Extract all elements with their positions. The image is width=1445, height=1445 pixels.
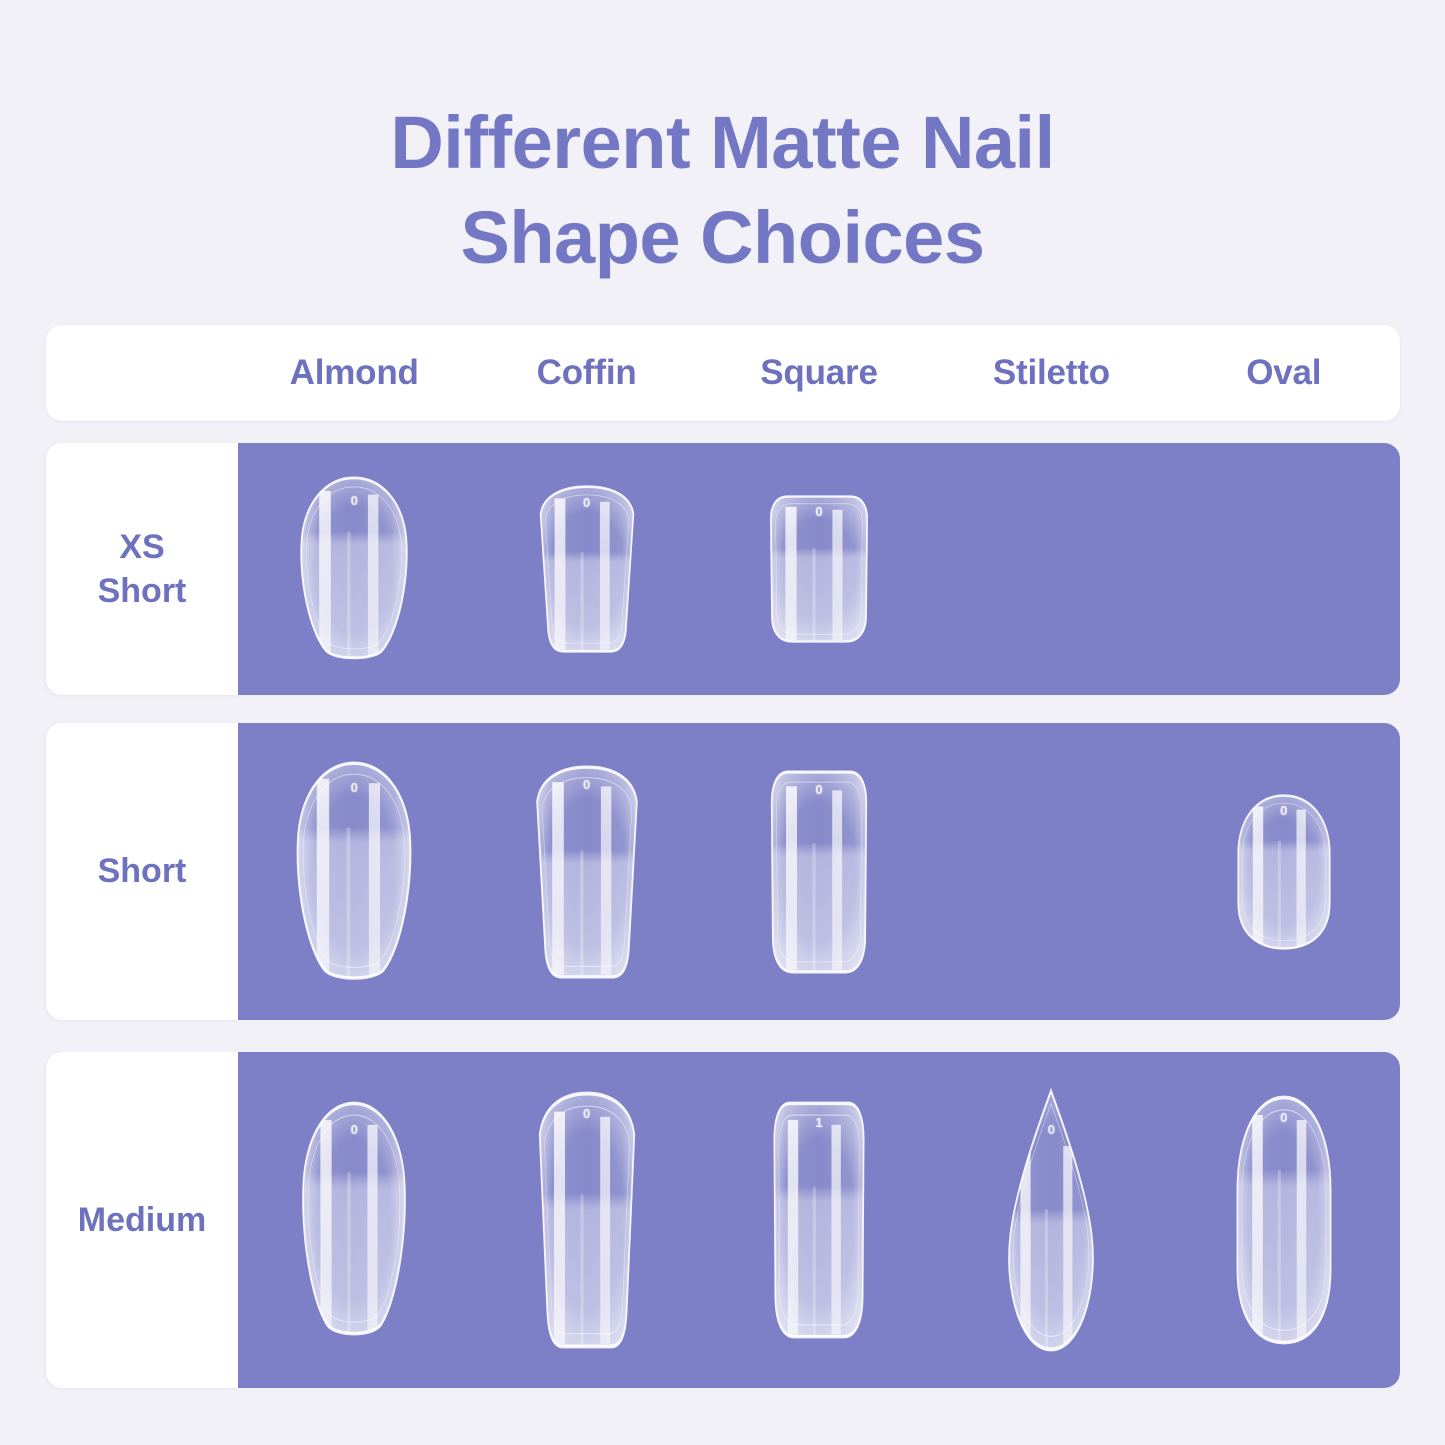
nail-cell-medium-coffin: 0 <box>470 1052 702 1388</box>
nail-size-marking: 0 <box>583 777 590 792</box>
nail-tip-stiletto: 0 <box>1000 1088 1102 1352</box>
column-header-square: Square <box>703 353 935 393</box>
nail-cell-xs-short-coffin: 0 <box>470 443 702 695</box>
nail-size-marking: 0 <box>1280 1110 1287 1125</box>
nail-size-marking: 1 <box>815 1115 822 1130</box>
nail-cell-xs-short-almond: 0 <box>238 443 470 695</box>
nail-size-marking: 0 <box>815 504 822 519</box>
nail-cell-medium-square: 1 <box>703 1052 935 1388</box>
row-label-cell-medium: Medium <box>46 1052 238 1388</box>
nail-cell-xs-short-square: 0 <box>703 443 935 695</box>
nail-cell-medium-oval: 0 <box>1168 1052 1400 1388</box>
nail-tip-oval: 0 <box>1232 794 1336 950</box>
page-title: Different Matte Nail Shape Choices <box>0 96 1445 285</box>
nail-size-marking: 0 <box>583 1106 590 1121</box>
row-panel-medium: 0 <box>238 1052 1400 1388</box>
nail-tip-coffin: 0 <box>533 485 641 653</box>
column-header-stiletto: Stiletto <box>935 353 1167 393</box>
nail-cell-medium-almond: 0 <box>238 1052 470 1388</box>
nail-cell-medium-stiletto: 0 <box>935 1052 1167 1388</box>
nail-tip-oval: 0 <box>1231 1095 1337 1345</box>
nail-cell-xs-short-oval <box>1168 443 1400 695</box>
nail-cell-short-stiletto <box>935 723 1167 1020</box>
nail-size-marking: 0 <box>815 782 822 797</box>
size-row-xs-short: XS Short <box>46 443 1400 695</box>
column-header-labels: Almond Coffin Square Stiletto Oval <box>238 325 1400 421</box>
page-title-line-2: Shape Choices <box>0 191 1445 286</box>
nail-tip-coffin: 0 <box>532 1091 642 1349</box>
nail-shape-chart-page: Different Matte Nail Shape Choices Almon… <box>0 0 1445 1445</box>
nail-size-marking: 0 <box>351 780 358 795</box>
row-panel-xs-short: 0 <box>238 443 1400 695</box>
column-header-oval: Oval <box>1168 353 1400 393</box>
nail-size-marking: 0 <box>351 493 358 508</box>
nail-size-marking: 0 <box>583 495 590 510</box>
nail-cell-short-oval: 0 <box>1168 723 1400 1020</box>
row-label-medium: Medium <box>78 1198 206 1242</box>
row-label-short: Short <box>98 849 187 893</box>
column-header-card: Almond Coffin Square Stiletto Oval <box>46 325 1400 421</box>
page-title-line-1: Different Matte Nail <box>0 96 1445 191</box>
nail-cell-short-almond: 0 <box>238 723 470 1020</box>
nail-tip-square: 0 <box>764 770 874 974</box>
nail-cell-xs-short-stiletto <box>935 443 1167 695</box>
nail-size-marking: 0 <box>1048 1122 1055 1137</box>
nail-tip-square: 0 <box>763 495 875 643</box>
column-header-almond: Almond <box>238 353 470 393</box>
size-row-short: Short <box>46 723 1400 1020</box>
row-label-xs-short: XS Short <box>98 525 187 613</box>
nail-tip-almond: 0 <box>298 1101 410 1339</box>
nail-cell-short-square: 0 <box>703 723 935 1020</box>
nail-tip-coffin: 0 <box>529 765 645 979</box>
nail-size-marking: 0 <box>351 1122 358 1137</box>
nail-size-marking: 0 <box>1280 803 1287 818</box>
row-label-cell-short: Short <box>46 723 238 1020</box>
nail-tip-almond: 0 <box>292 761 416 983</box>
header-corner-spacer <box>46 325 238 421</box>
size-row-medium: Medium <box>46 1052 1400 1388</box>
nail-cell-short-coffin: 0 <box>470 723 702 1020</box>
column-header-coffin: Coffin <box>470 353 702 393</box>
row-label-cell-xs-short: XS Short <box>46 443 238 695</box>
row-panel-short: 0 <box>238 723 1400 1020</box>
nail-tip-square: 1 <box>767 1101 871 1339</box>
nail-tip-almond: 0 <box>296 476 412 662</box>
